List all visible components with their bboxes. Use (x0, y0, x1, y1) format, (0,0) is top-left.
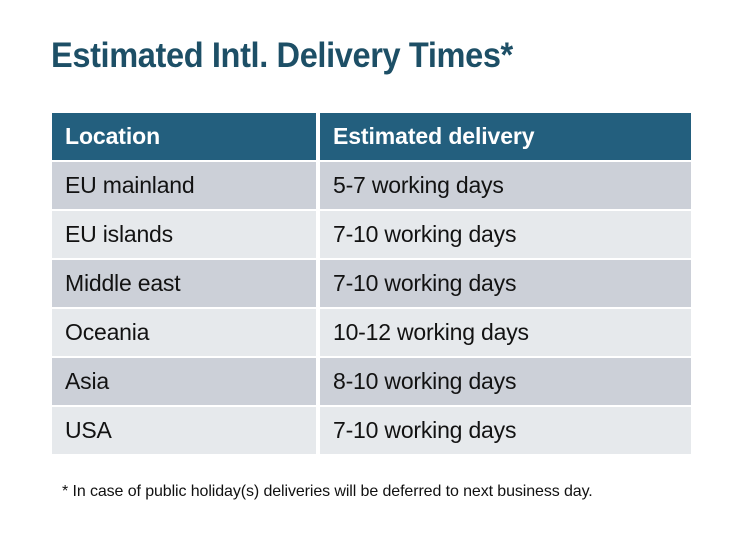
delivery-times-page: Estimated Intl. Delivery Times* Location… (0, 0, 745, 536)
cell-location: Middle east (52, 260, 316, 307)
cell-location: EU mainland (52, 162, 316, 209)
cell-estimated-delivery: 10-12 working days (320, 309, 691, 356)
column-header-location: Location (52, 113, 316, 160)
table-row: Middle east7-10 working days (52, 260, 691, 307)
estimated-delivery-table: Location Estimated delivery EU mainland5… (52, 113, 691, 454)
cell-estimated-delivery: 5-7 working days (320, 162, 691, 209)
table-row: Asia8-10 working days (52, 358, 691, 405)
table-body: EU mainland5-7 working daysEU islands7-1… (52, 162, 691, 454)
cell-estimated-delivery: 7-10 working days (320, 211, 691, 258)
column-header-estimated-delivery: Estimated delivery (320, 113, 691, 160)
footnote: * In case of public holiday(s) deliverie… (62, 481, 593, 503)
table-row: EU mainland5-7 working days (52, 162, 691, 209)
cell-estimated-delivery: 7-10 working days (320, 407, 691, 454)
table-header-row: Location Estimated delivery (52, 113, 691, 160)
cell-estimated-delivery: 7-10 working days (320, 260, 691, 307)
table-row: Oceania10-12 working days (52, 309, 691, 356)
cell-location: Asia (52, 358, 316, 405)
cell-location: EU islands (52, 211, 316, 258)
table-row: EU islands7-10 working days (52, 211, 691, 258)
page-title: Estimated Intl. Delivery Times* (51, 34, 513, 78)
cell-estimated-delivery: 8-10 working days (320, 358, 691, 405)
cell-location: Oceania (52, 309, 316, 356)
table-row: USA7-10 working days (52, 407, 691, 454)
cell-location: USA (52, 407, 316, 454)
